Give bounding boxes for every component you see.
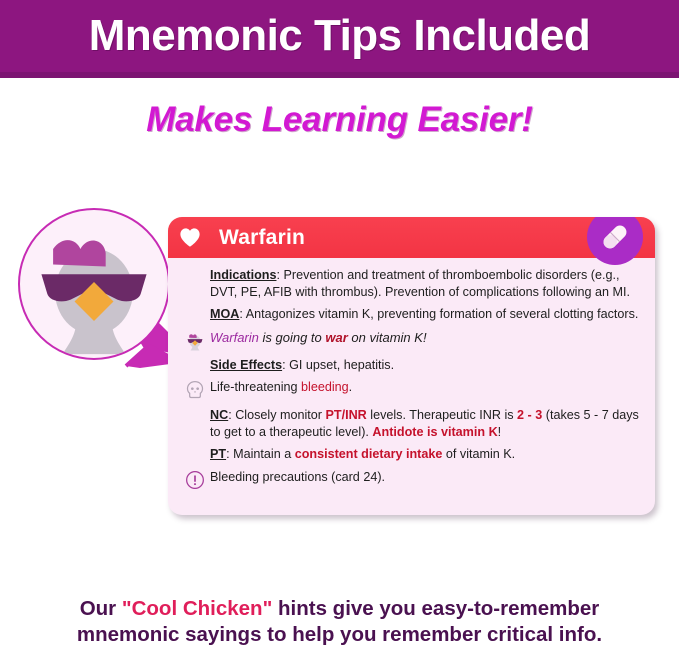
subtitle: Makes Learning Easier! (0, 100, 679, 140)
nc-antidote: Antidote is vitamin K (372, 425, 497, 439)
pt-a: : Maintain a (226, 447, 295, 461)
banner-underline (0, 72, 679, 78)
card-row-bleeding: Life-threatening bleeding. (182, 379, 641, 401)
moa-body: : Antagonizes vitamin K, preventing form… (239, 307, 638, 321)
mnemonic-part2: is going to (259, 330, 326, 345)
cool-chicken-icon (183, 330, 207, 351)
indications-text: Indications: Prevention and treatment of… (210, 267, 641, 300)
footer-line1-a: Our (80, 597, 122, 620)
nc-a: : Closely monitor (228, 408, 325, 422)
pt-c: of vitamin K. (442, 447, 515, 461)
mnemonic-part4: on vitamin K! (348, 330, 427, 345)
footer-line1-c: hints give you easy-to-remember (272, 597, 599, 620)
side-effects-label: Side Effects (210, 358, 282, 372)
moa-label: MOA (210, 307, 239, 321)
footer-line2: mnemonic sayings to help you remember cr… (77, 623, 602, 646)
moa-text: MOA: Antagonizes vitamin K, preventing f… (210, 306, 641, 323)
card-row-side-effects: Side Effects: GI upset, hepatitis. (182, 357, 641, 374)
nc-g: ! (498, 425, 502, 439)
exclamation-circle-icon-wrap (182, 470, 208, 491)
mnemonic-part3: war (325, 330, 347, 345)
card-row-moa: MOA: Antagonizes vitamin K, preventing f… (182, 306, 641, 323)
card-row-indications: Indications: Prevention and treatment of… (182, 267, 641, 300)
bleeding-prefix: Life-threatening (210, 380, 301, 394)
skull-icon-wrap (182, 380, 208, 401)
card-row-nc: NC: Closely monitor PT/INR levels. Thera… (182, 407, 641, 440)
pt-label: PT (210, 447, 226, 461)
indications-label: Indications (210, 268, 276, 282)
drug-card[interactable]: Warfarin Indications: Prevention and tre… (168, 217, 655, 515)
card-body: Indications: Prevention and treatment of… (168, 258, 655, 505)
mnemonic-part1: Warfarin (210, 330, 259, 345)
pt-highlight: consistent dietary intake (295, 447, 443, 461)
bleeding-text: Life-threatening bleeding. (210, 379, 641, 396)
precautions-text: Bleeding precautions (card 24). (210, 469, 641, 486)
capsule-pill-icon (598, 220, 632, 254)
exclamation-circle-icon (185, 470, 205, 490)
banner-title: Mnemonic Tips Included (0, 11, 679, 61)
side-effects-text: Side Effects: GI upset, hepatitis. (210, 357, 641, 374)
skull-icon (185, 380, 205, 400)
cool-chicken-illustration-icon (20, 210, 168, 358)
footer-cool-chicken: "Cool Chicken" (122, 597, 272, 620)
nc-text: NC: Closely monitor PT/INR levels. Thera… (210, 407, 641, 440)
capsule-pill-badge (587, 217, 643, 265)
nc-ptinr: PT/INR (326, 408, 367, 422)
card-row-precautions: Bleeding precautions (card 24). (182, 469, 641, 491)
card-header: Warfarin (168, 217, 655, 258)
nc-label: NC (210, 408, 228, 422)
card-title: Warfarin (219, 226, 305, 250)
mnemonic-text: Warfarin is going to war on vitamin K! (210, 329, 641, 346)
card-row-pt: PT: Maintain a consistent dietary intake… (182, 446, 641, 463)
cool-chicken-magnifier (18, 208, 170, 360)
heart-icon (179, 227, 201, 248)
footer-caption: Our "Cool Chicken" hints give you easy-t… (0, 596, 679, 648)
nc-inr-range: 2 - 3 (517, 408, 542, 422)
nc-c: levels. Therapeutic INR is (367, 408, 517, 422)
cool-chicken-icon-wrap (182, 330, 208, 351)
side-effects-body: : GI upset, hepatitis. (282, 358, 394, 372)
pt-text: PT: Maintain a consistent dietary intake… (210, 446, 641, 463)
bleeding-suffix: . (349, 380, 353, 394)
bleeding-highlight: bleeding (301, 380, 349, 394)
card-row-mnemonic: Warfarin is going to war on vitamin K! (182, 329, 641, 351)
